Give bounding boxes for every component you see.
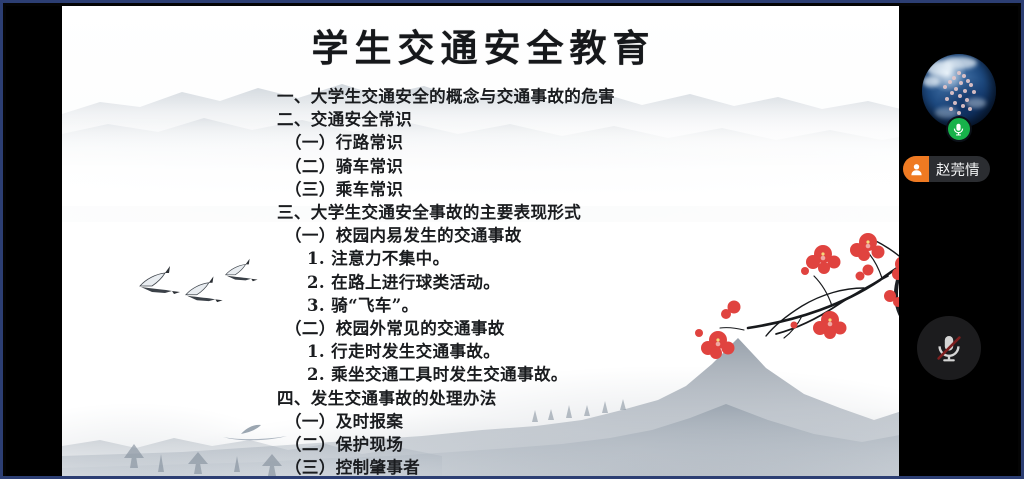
outline-line: 2. 乘坐交通工具时发生交通事故。 bbox=[277, 363, 837, 386]
outline-line: （一）校园内易发生的交通事故 bbox=[277, 224, 837, 247]
microphone-glyph bbox=[953, 123, 964, 136]
outline-line: 一、大学生交通安全的概念与交通事故的危害 bbox=[277, 85, 837, 108]
outline-line: （二）保护现场 bbox=[277, 433, 837, 456]
outline-line: 1. 行走时发生交通事故。 bbox=[277, 340, 837, 363]
slide-title: 学生交通安全教育 bbox=[62, 18, 905, 72]
shared-slide[interactable]: 学生交通安全教育 一、大学生交通安全的概念与交通事故的危害二、交通安全常识（一）… bbox=[62, 6, 905, 476]
slide-text-content: 学生交通安全教育 一、大学生交通安全的概念与交通事故的危害二、交通安全常识（一）… bbox=[62, 6, 905, 476]
outline-line: （二）骑车常识 bbox=[277, 155, 837, 178]
microphone-muted-icon bbox=[932, 331, 966, 365]
mute-toggle-button[interactable] bbox=[917, 316, 981, 380]
meeting-stage: 学生交通安全教育 一、大学生交通安全的概念与交通事故的危害二、交通安全常识（一）… bbox=[3, 3, 1021, 476]
outline-line: （一）及时报案 bbox=[277, 410, 837, 433]
microphone-active-icon bbox=[946, 116, 972, 142]
outline-line: 三、大学生交通安全事故的主要表现形式 bbox=[277, 201, 837, 224]
participant-rail: 赵莞情 bbox=[899, 6, 1018, 479]
outline-line: 二、交通安全常识 bbox=[277, 108, 837, 131]
cherry-blossom-overlay bbox=[937, 70, 983, 116]
outline-line: 2. 在路上进行球类活动。 bbox=[277, 271, 837, 294]
outline-line: （三）控制肇事者 bbox=[277, 456, 837, 476]
participant-name-badge: 赵莞情 bbox=[903, 156, 990, 182]
stage-left-gutter bbox=[6, 6, 62, 479]
outline-line: （二）校园外常见的交通事故 bbox=[277, 317, 837, 340]
meeting-window: 学生交通安全教育 一、大学生交通安全的概念与交通事故的危害二、交通安全常识（一）… bbox=[0, 0, 1024, 479]
participant-tile[interactable]: 赵莞情 bbox=[899, 54, 1018, 204]
participant-name-label: 赵莞情 bbox=[929, 159, 980, 180]
outline-line: （一）行路常识 bbox=[277, 131, 837, 154]
slide-outline-list: 一、大学生交通安全的概念与交通事故的危害二、交通安全常识（一）行路常识（二）骑车… bbox=[277, 85, 837, 476]
outline-line: 1. 注意力不集中。 bbox=[277, 247, 837, 270]
outline-line: 四、发生交通事故的处理办法 bbox=[277, 387, 837, 410]
outline-line: 3. 骑“飞车”。 bbox=[277, 294, 837, 317]
person-icon bbox=[903, 156, 929, 182]
person-glyph bbox=[910, 163, 923, 176]
outline-line: （三）乘车常识 bbox=[277, 178, 837, 201]
